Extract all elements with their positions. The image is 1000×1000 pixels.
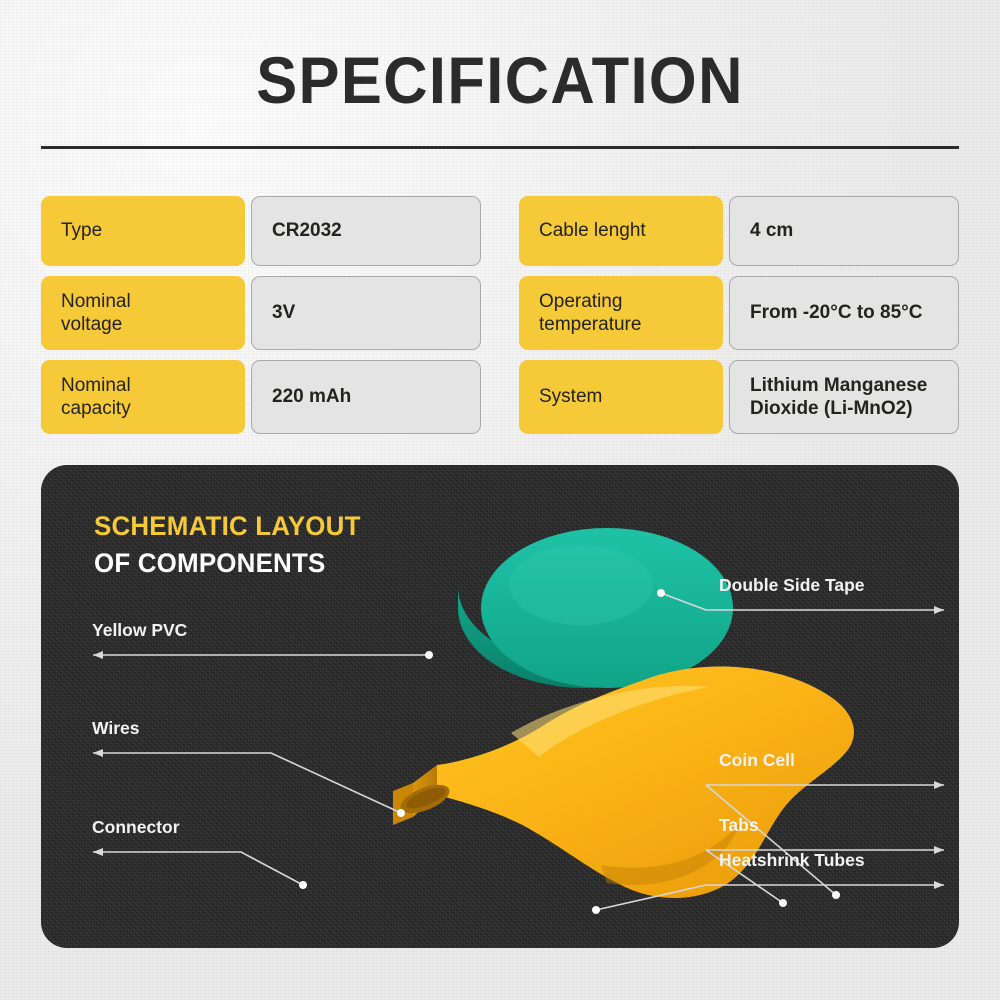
spec-value: CR2032 [251,196,481,266]
callout-label-yellow-pvc: Yellow PVC [92,620,187,641]
spec-value: 220 mAh [251,360,481,434]
callout-label-double-side-tape: Double Side Tape [719,575,865,596]
callout-label-coin-cell: Coin Cell [719,750,795,771]
spec-value: 3V [251,276,481,350]
spec-label: Nominalvoltage [41,276,245,350]
spec-label: Type [41,196,245,266]
schematic-panel: SCHEMATIC LAYOUT OF COMPONENTS [41,465,959,948]
specification-table: Type CR2032 Cable lenght 4 cm Nominalvol… [41,196,959,434]
callout-label-tabs: Tabs [719,815,759,836]
spec-value: Lithium ManganeseDioxide (Li-MnO2) [729,360,959,434]
spec-value: From -20°C to 85°C [729,276,959,350]
callout-label-heatshrink-tubes: Heatshrink Tubes [719,850,865,871]
title-divider [41,146,959,149]
table-row: System Lithium ManganeseDioxide (Li-MnO2… [519,360,959,434]
spec-label: Nominalcapacity [41,360,245,434]
callout-label-wires: Wires [92,718,140,739]
table-row: Nominalvoltage 3V [41,276,481,350]
table-row: Type CR2032 [41,196,481,266]
table-row: Operatingtemperature From -20°C to 85°C [519,276,959,350]
spec-label: Cable lenght [519,196,723,266]
double-side-tape-part [458,528,733,688]
table-row: Nominalcapacity 220 mAh [41,360,481,434]
spec-label: Operatingtemperature [519,276,723,350]
exploded-view-illustration: ROMETECH 3V Lithium Made in China [41,465,959,948]
page-title: SPECIFICATION [35,47,965,113]
spec-value: 4 cm [729,196,959,266]
table-row: Cable lenght 4 cm [519,196,959,266]
callout-label-connector: Connector [92,817,180,838]
spec-label: System [519,360,723,434]
